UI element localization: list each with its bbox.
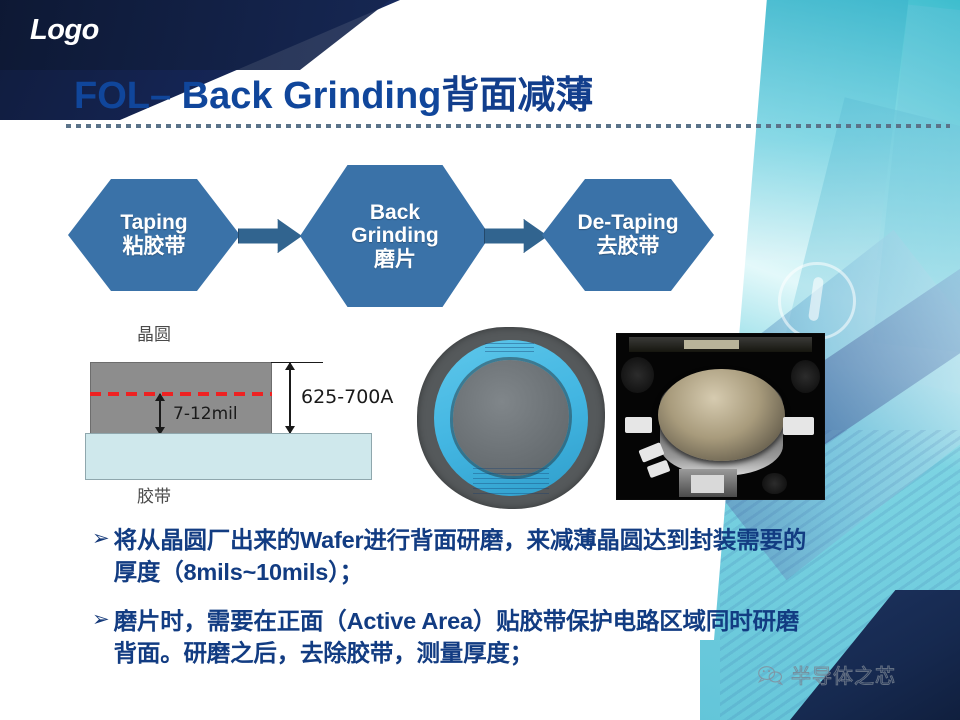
list-item: ➢ 将从晶圆厂出来的Wafer进行背面研磨，来减薄晶圆达到封装需要的厚度（8mi… [92,524,822,589]
machine-arm-lower-2 [647,459,670,477]
flow-step-de-taping-en: De-Taping [577,211,678,235]
machine-wafer-on-chuck [658,369,784,461]
right-arrow-icon [238,219,302,253]
total-thickness-label: 625-700A [301,386,393,408]
machine-top-bar [629,337,811,352]
back-grinder-machine-photo [616,333,825,500]
flow-step-back-grinding: Back Grinding 磨片 [300,165,490,307]
wafer-surface [453,360,570,476]
flow-step-taping-cn: 粘胶带 [123,235,186,259]
wafer-bottom-marking [473,465,548,494]
page-title: FOL– Back Grinding背面减薄 [74,64,593,119]
wafer-cross-section-diagram: 晶圆 7-12mil 625-700A 胶带 [85,320,415,515]
cross-section-tape-label: 胶带 [137,482,171,507]
bullet-arrow-icon: ➢ [92,524,110,552]
process-flow-diagram: Taping 粘胶带 Back Grinding 磨片 De-Taping 去胶… [60,163,690,308]
flow-step-back-grinding-en2: Grinding [351,224,439,248]
flow-step-taping-en: Taping [120,211,187,235]
list-item: ➢ 磨片时，需要在正面（Active Area）贴胶带保护电路区域同时研磨背面。… [92,605,822,670]
machine-blob-bottom [762,473,787,494]
machine-arm-lower-1 [638,442,664,463]
cross-section-tape-block [85,433,372,480]
machine-arm-left [625,417,652,434]
watermark: 半导体之芯 [757,660,896,689]
taped-wafer-photo [417,327,605,509]
grind-line-indicator [90,392,272,396]
total-thickness-dimension-arrow [289,363,291,433]
machine-front-base [679,469,737,497]
watermark-text: 半导体之芯 [791,660,896,689]
logo-placeholder: Logo [30,14,99,47]
wechat-icon [757,664,784,686]
bullet-text-2: 磨片时，需要在正面（Active Area）贴胶带保护电路区域同时研磨背面。研磨… [114,605,822,670]
machine-blob-left [621,357,654,393]
grind-depth-label: 7-12mil [173,404,238,424]
slide-canvas: Logo FOL– Back Grinding背面减薄 Taping 粘胶带 B… [0,0,960,720]
right-arrow-icon [484,219,548,253]
bullet-text-1: 将从晶圆厂出来的Wafer进行背面研磨，来减薄晶圆达到封装需要的厚度（8mils… [114,524,822,589]
bullet-list: ➢ 将从晶圆厂出来的Wafer进行背面研磨，来减薄晶圆达到封装需要的厚度（8mi… [92,524,822,686]
background-circle-watermark-icon [778,262,856,340]
bullet-arrow-icon: ➢ [92,605,110,633]
wafer-top-marking [485,343,534,352]
page-title-cn: 背面减薄 [441,75,593,117]
cross-section-wafer-block [90,362,272,436]
title-divider [66,124,950,128]
flow-step-de-taping: De-Taping 去胶带 [542,179,714,291]
machine-blob-right [791,360,820,393]
flow-step-de-taping-cn: 去胶带 [597,235,660,259]
machine-arm-right [783,417,814,435]
flow-step-back-grinding-en1: Back [370,201,420,225]
flow-step-back-grinding-cn: 磨片 [374,248,416,272]
grind-depth-dimension-arrow [159,394,161,434]
flow-step-taping: Taping 粘胶带 [68,179,240,291]
thickness-extension-line [271,362,323,363]
page-title-en: FOL– Back Grinding [74,75,441,117]
cross-section-wafer-label: 晶圆 [137,320,171,345]
